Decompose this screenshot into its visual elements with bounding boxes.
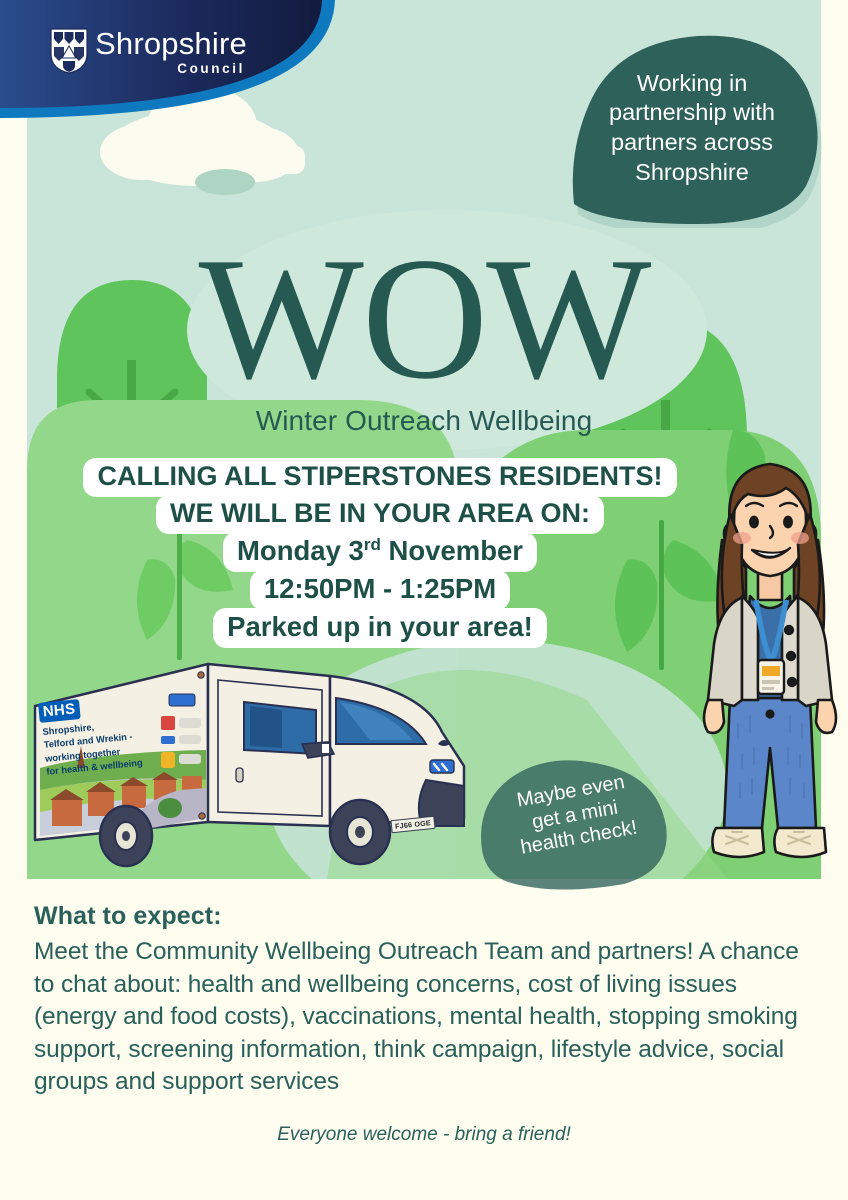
outreach-worker-illustration <box>690 448 848 878</box>
partner-line-3: partners across <box>611 128 773 158</box>
info-line-calling: CALLING ALL STIPERSTONES RESIDENTS! <box>83 458 676 497</box>
what-to-expect-body: Meet the Community Wellbeing Outreach Te… <box>34 936 824 1099</box>
everyone-welcome-tagline: Everyone welcome - bring a friend! <box>0 1124 848 1146</box>
what-to-expect-section: What to expect: Meet the Community Wellb… <box>34 902 824 1099</box>
logo-sub-text: Council <box>95 62 247 76</box>
info-line-area: WE WILL BE IN YOUR AREA ON: <box>156 495 604 534</box>
health-check-callout-bubble: Maybe even get a mini health check! <box>474 758 674 890</box>
partner-line-2: partnership with <box>609 98 775 128</box>
date-ordinal: rd <box>364 535 381 554</box>
shropshire-council-logo: Shropshire Council <box>50 28 247 76</box>
poster-canvas: Shropshire Council Working in partnershi… <box>0 0 848 1200</box>
small-cloud-icon <box>195 169 255 195</box>
partnership-bubble-text: Working in partnership with partners acr… <box>558 28 826 228</box>
event-details-block: CALLING ALL STIPERSTONES RESIDENTS! WE W… <box>0 459 760 647</box>
partner-line-4: Shropshire <box>635 158 749 188</box>
shropshire-shield-icon <box>50 28 88 74</box>
partnership-callout-bubble: Working in partnership with partners acr… <box>558 28 826 228</box>
page-subtitle-expansion: Winter Outreach Wellbeing <box>0 405 848 437</box>
date-prefix: Monday 3 <box>237 535 364 566</box>
logo-name-text: Shropshire <box>95 28 247 59</box>
info-line-date: Monday 3rd November <box>223 532 537 572</box>
partner-line-1: Working in <box>637 69 748 99</box>
council-header-band: Shropshire Council <box>0 0 470 125</box>
info-line-time: 12:50PM - 1:25PM <box>250 570 510 610</box>
page-title-wow: WOW <box>0 238 848 399</box>
date-suffix: November <box>381 535 523 566</box>
what-to-expect-heading: What to expect: <box>34 902 824 931</box>
nhs-logo: NHS <box>38 699 80 723</box>
